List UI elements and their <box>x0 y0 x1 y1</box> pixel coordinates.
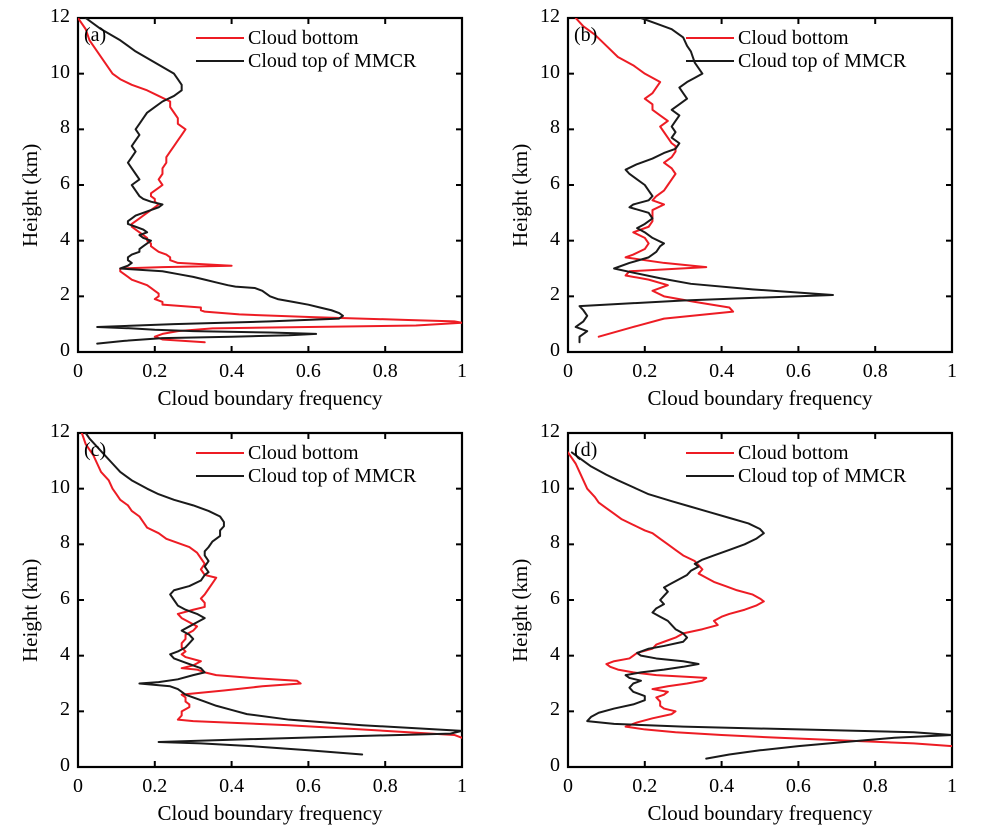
panel-label-b: (b) <box>574 24 597 47</box>
x-axis-label: Cloud boundary frequency <box>78 386 462 411</box>
legend-item: Cloud bottom <box>196 441 416 464</box>
y-tick-label: 10 <box>26 61 70 84</box>
y-tick-label: 0 <box>516 339 560 362</box>
x-tick-label: 0.4 <box>692 360 752 383</box>
x-tick-label: 0.6 <box>768 775 828 798</box>
legend-item-label: Cloud bottom <box>248 28 359 48</box>
x-tick-label: 0.6 <box>768 360 828 383</box>
legend-item: Cloud bottom <box>196 26 416 49</box>
x-tick-label: 0 <box>48 775 108 798</box>
y-axis-label: Height (km) <box>508 144 533 247</box>
legend-swatch-line-icon <box>196 452 244 454</box>
y-axis-label: Height (km) <box>18 144 43 247</box>
legend-item: Cloud top of MMCR <box>196 464 416 487</box>
x-tick-label: 0.8 <box>355 775 415 798</box>
panel-d: 02468101200.20.40.60.81Cloud boundary fr… <box>490 415 993 840</box>
y-tick-label: 12 <box>516 5 560 28</box>
legend-item: Cloud bottom <box>686 441 906 464</box>
x-axis-label: Cloud boundary frequency <box>568 386 952 411</box>
panel-label-a: (a) <box>84 24 106 47</box>
legend-item-label: Cloud bottom <box>738 28 849 48</box>
x-tick-label: 1 <box>432 775 492 798</box>
x-tick-label: 1 <box>922 360 982 383</box>
y-tick-label: 8 <box>516 116 560 139</box>
x-tick-label: 0.6 <box>278 775 338 798</box>
y-tick-label: 0 <box>26 754 70 777</box>
panel-label-d: (d) <box>574 439 597 462</box>
legend: Cloud bottomCloud top of MMCR <box>686 441 906 487</box>
y-tick-label: 2 <box>516 698 560 721</box>
x-tick-label: 0.2 <box>125 360 185 383</box>
y-tick-label: 10 <box>26 476 70 499</box>
legend: Cloud bottomCloud top of MMCR <box>686 26 906 72</box>
x-tick-label: 0.4 <box>692 775 752 798</box>
x-tick-label: 0.4 <box>202 775 262 798</box>
y-tick-label: 2 <box>26 283 70 306</box>
legend-item-label: Cloud bottom <box>738 443 849 463</box>
y-tick-label: 12 <box>26 420 70 443</box>
y-tick-label: 12 <box>516 420 560 443</box>
x-tick-label: 1 <box>432 360 492 383</box>
figure-root: 02468101200.20.40.60.81Cloud boundary fr… <box>0 0 993 840</box>
x-tick-label: 1 <box>922 775 982 798</box>
legend-swatch-line-icon <box>686 452 734 454</box>
y-tick-label: 0 <box>26 339 70 362</box>
x-tick-label: 0 <box>538 360 598 383</box>
panel-b: 02468101200.20.40.60.81Cloud boundary fr… <box>490 0 993 415</box>
y-tick-label: 12 <box>26 5 70 28</box>
y-tick-label: 0 <box>516 754 560 777</box>
legend-swatch-line-icon <box>686 37 734 39</box>
y-tick-label: 8 <box>26 116 70 139</box>
x-tick-label: 0.6 <box>278 360 338 383</box>
y-axis-label: Height (km) <box>18 559 43 662</box>
x-tick-label: 0 <box>48 360 108 383</box>
legend: Cloud bottomCloud top of MMCR <box>196 26 416 72</box>
y-axis-label: Height (km) <box>508 559 533 662</box>
x-tick-label: 0.8 <box>355 360 415 383</box>
legend-item-label: Cloud bottom <box>248 443 359 463</box>
x-tick-label: 0.2 <box>125 775 185 798</box>
y-tick-label: 8 <box>516 531 560 554</box>
x-tick-label: 0.2 <box>615 775 675 798</box>
legend-swatch-line-icon <box>196 60 244 62</box>
legend-swatch-line-icon <box>196 475 244 477</box>
legend-swatch-line-icon <box>686 60 734 62</box>
y-tick-label: 2 <box>26 698 70 721</box>
x-tick-label: 0.8 <box>845 775 905 798</box>
panel-label-c: (c) <box>84 439 106 462</box>
x-axis-label: Cloud boundary frequency <box>568 801 952 826</box>
legend-item-label: Cloud top of MMCR <box>248 51 416 71</box>
legend-item: Cloud top of MMCR <box>686 49 906 72</box>
panel-c: 02468101200.20.40.60.81Cloud boundary fr… <box>0 415 490 840</box>
legend-item-label: Cloud top of MMCR <box>738 466 906 486</box>
x-tick-label: 0 <box>538 775 598 798</box>
legend-item-label: Cloud top of MMCR <box>248 466 416 486</box>
legend-swatch-line-icon <box>196 37 244 39</box>
legend: Cloud bottomCloud top of MMCR <box>196 441 416 487</box>
x-tick-label: 0.8 <box>845 360 905 383</box>
legend-item: Cloud top of MMCR <box>196 49 416 72</box>
legend-item: Cloud bottom <box>686 26 906 49</box>
legend-swatch-line-icon <box>686 475 734 477</box>
y-tick-label: 10 <box>516 476 560 499</box>
x-tick-label: 0.4 <box>202 360 262 383</box>
legend-item-label: Cloud top of MMCR <box>738 51 906 71</box>
y-tick-label: 10 <box>516 61 560 84</box>
y-tick-label: 8 <box>26 531 70 554</box>
legend-item: Cloud top of MMCR <box>686 464 906 487</box>
panel-a: 02468101200.20.40.60.81Cloud boundary fr… <box>0 0 490 415</box>
x-axis-label: Cloud boundary frequency <box>78 801 462 826</box>
y-tick-label: 2 <box>516 283 560 306</box>
x-tick-label: 0.2 <box>615 360 675 383</box>
